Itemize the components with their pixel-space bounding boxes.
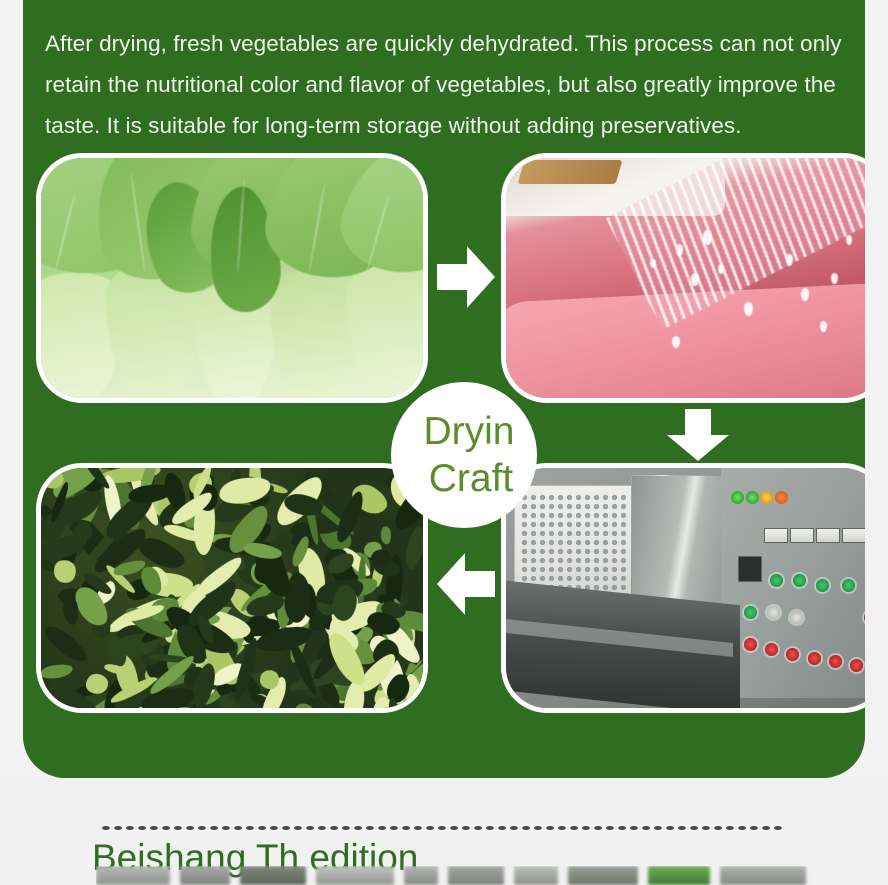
photo-fresh-vegetables[interactable]: [36, 153, 428, 403]
arrow-left-icon: [435, 549, 497, 619]
dotted-divider: [100, 825, 784, 831]
photo-fresh-vegetables-image: [41, 158, 423, 398]
thumbnail-item[interactable]: [404, 866, 438, 885]
photo-washing[interactable]: [501, 153, 865, 403]
thumbnail-item[interactable]: [448, 866, 504, 885]
thumbnail-item[interactable]: [514, 866, 558, 885]
photo-drying-machine[interactable]: [501, 463, 865, 713]
drying-craft-badge: [391, 382, 537, 528]
thumbnail-item[interactable]: [240, 866, 306, 885]
photo-washing-image: [506, 158, 865, 398]
thumbnail-item[interactable]: [720, 866, 806, 885]
green-content-panel: processing. Advanced drying equipment is…: [23, 0, 865, 778]
thumbnail-item[interactable]: [180, 866, 230, 885]
intro-paragraph: After drying, fresh vegetables are quick…: [45, 23, 845, 146]
photo-dried-vegetables-image: [41, 468, 423, 708]
product-thumbnail-strip[interactable]: [96, 866, 886, 885]
thumbnail-item[interactable]: [648, 866, 710, 885]
photo-dried-vegetables[interactable]: [36, 463, 428, 713]
thumbnail-item[interactable]: [96, 866, 170, 885]
thumbnail-item[interactable]: [316, 866, 394, 885]
thumbnail-item[interactable]: [568, 866, 638, 885]
arrow-right-icon: [435, 242, 497, 312]
arrow-down-icon: [663, 407, 733, 463]
product-detail-page: processing. Advanced drying equipment is…: [0, 0, 888, 885]
photo-drying-machine-image: [506, 468, 865, 708]
